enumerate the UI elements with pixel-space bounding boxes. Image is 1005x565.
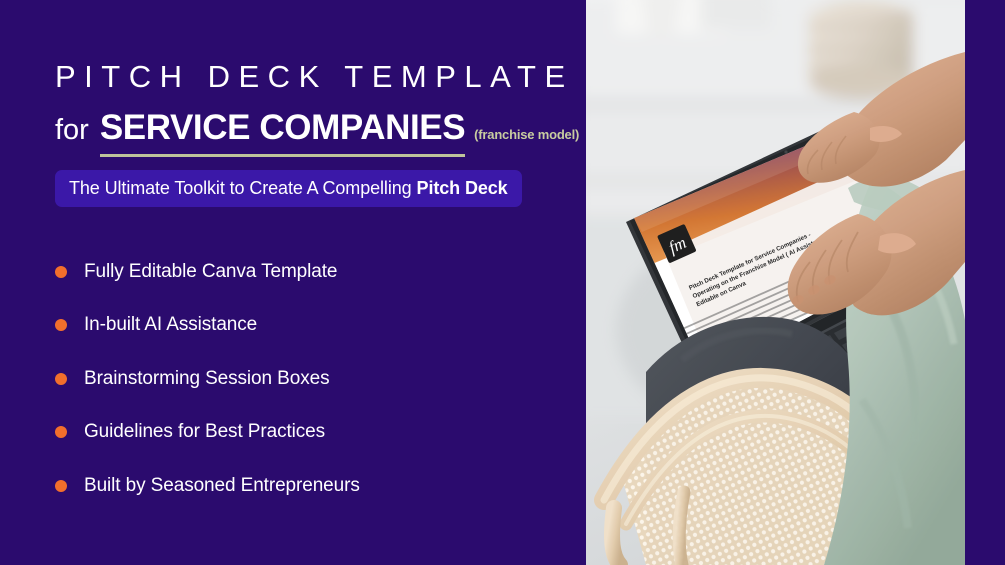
page-title: PITCH DECK TEMPLATE for SERVICE COMPANIE… xyxy=(55,60,575,157)
bullet-dot-icon xyxy=(55,266,67,278)
title-for-word: for xyxy=(55,114,89,147)
list-item: Guidelines for Best Practices xyxy=(55,406,555,460)
bullet-dot-icon xyxy=(55,373,67,385)
feature-label: Brainstorming Session Boxes xyxy=(84,368,329,390)
left-content-pane: PITCH DECK TEMPLATE for SERVICE COMPANIE… xyxy=(0,0,586,565)
right-purple-strip xyxy=(965,0,1005,565)
bullet-dot-icon xyxy=(55,426,67,438)
title-note-text: (franchise model) xyxy=(474,127,579,142)
feature-label: Guidelines for Best Practices xyxy=(84,421,325,443)
feature-label: In-built AI Assistance xyxy=(84,314,257,336)
bullet-dot-icon xyxy=(55,319,67,331)
feature-label: Fully Editable Canva Template xyxy=(84,261,337,283)
hero-photo: fm Pitch Deck Template for Service Compa… xyxy=(586,0,965,565)
list-item: In-built AI Assistance xyxy=(55,299,555,353)
tagline-text: The Ultimate Toolkit to Create A Compell… xyxy=(69,178,412,199)
feature-label: Built by Seasoned Entrepreneurs xyxy=(84,475,360,497)
list-item: Brainstorming Session Boxes xyxy=(55,352,555,406)
title-underline-rule xyxy=(100,154,465,157)
title-strong-text: SERVICE COMPANIES xyxy=(100,108,465,148)
slide-canvas: PITCH DECK TEMPLATE for SERVICE COMPANIE… xyxy=(0,0,1005,565)
title-strong-wrapper: SERVICE COMPANIES xyxy=(100,108,465,157)
hero-photo-illustration: fm Pitch Deck Template for Service Compa… xyxy=(586,0,965,565)
title-line-secondary: for SERVICE COMPANIES (franchise model) xyxy=(55,108,575,157)
title-line-primary: PITCH DECK TEMPLATE xyxy=(55,60,575,94)
feature-list: Fully Editable Canva Template In-built A… xyxy=(55,245,555,513)
list-item: Built by Seasoned Entrepreneurs xyxy=(55,459,555,513)
tagline-banner: The Ultimate Toolkit to Create A Compell… xyxy=(55,170,522,207)
bullet-dot-icon xyxy=(55,480,67,492)
list-item: Fully Editable Canva Template xyxy=(55,245,555,299)
tagline-strong-text: Pitch Deck xyxy=(417,178,508,199)
